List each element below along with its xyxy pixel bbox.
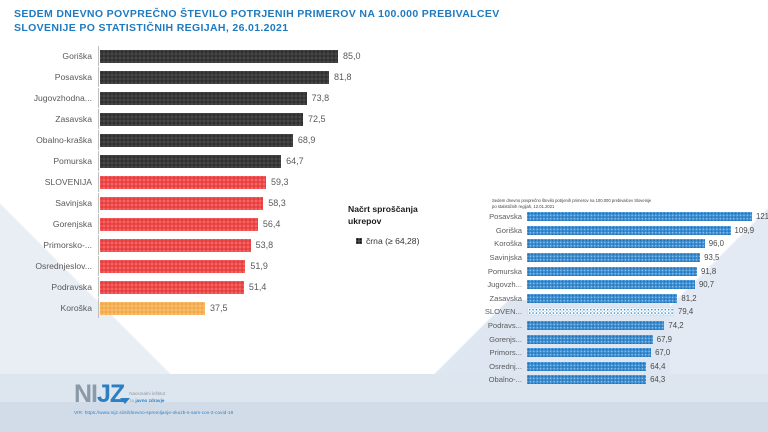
right-chart-category-label: Posavska [458, 212, 527, 221]
right-chart-bar [527, 335, 653, 344]
left-chart-bar [100, 92, 307, 105]
right-chart-plot-cell: 91,8 [527, 264, 768, 278]
left-chart-row: Zasavska72,5 [8, 109, 438, 129]
left-chart-category-label: SLOVENIJA [8, 177, 98, 187]
right-chart-bar [527, 307, 674, 316]
left-chart-row: Goriška85,0 [8, 46, 438, 66]
left-chart-bar [100, 239, 251, 252]
right-chart-value-label: 74,2 [668, 321, 683, 330]
left-bar-chart: Goriška85,0Posavska81,8Jugovzhodna...73,… [8, 46, 438, 308]
left-chart-bar [100, 302, 205, 315]
left-chart-category-label: Posavska [8, 72, 98, 82]
right-chart-category-label: Koroška [458, 239, 527, 248]
left-chart-row: Pomurska64,7 [8, 151, 438, 171]
right-chart-row: Podravs...74,2 [458, 319, 768, 333]
left-chart-plot-cell: 64,7 [98, 151, 438, 171]
right-chart-plot-cell: 121, [527, 210, 768, 224]
left-chart-value-label: 81,8 [334, 72, 352, 82]
left-chart-category-label: Gorenjska [8, 219, 98, 229]
right-chart-value-label: 96,0 [709, 239, 724, 248]
left-chart-category-label: Zasavska [8, 114, 98, 124]
legend-item-label: črna (≥ 64,28) [366, 236, 419, 246]
logo-subtext: Nacionalni inštitut za javno zdravje [129, 391, 165, 404]
right-chart-row: Primors...67,0 [458, 346, 768, 360]
left-chart-value-label: 37,5 [210, 303, 228, 313]
left-chart-category-label: Koroška [8, 303, 98, 313]
right-chart-category-label: Obalno-... [458, 375, 527, 384]
left-chart-category-label: Primorsko-... [8, 240, 98, 250]
right-chart-title-line2: po statističnih regijah, 12.01.2021 [492, 204, 554, 209]
left-chart-category-label: Pomurska [8, 156, 98, 166]
right-chart-value-label: 109,9 [735, 226, 755, 235]
left-chart-value-label: 56,4 [263, 219, 281, 229]
right-chart-category-label: Pomurska [458, 267, 527, 276]
left-chart-value-label: 59,3 [271, 177, 289, 187]
left-chart-plot-cell: 72,5 [98, 109, 438, 129]
right-chart-row: Posavska121, [458, 210, 768, 224]
left-chart-bar [100, 71, 329, 84]
left-chart-bar [100, 50, 338, 63]
left-chart-bar [100, 176, 266, 189]
page-title-line1: SEDEM DNEVNO POVPREČNO ŠTEVILO POTRJENIH… [14, 8, 500, 20]
logo-wordmark: NIJZ [74, 382, 124, 407]
legend-item-crna: črna (≥ 64,28) [348, 236, 458, 246]
left-chart-value-label: 73,8 [312, 93, 330, 103]
left-chart-value-label: 53,8 [256, 240, 274, 250]
right-chart-row: Goriška109,9 [458, 224, 768, 238]
legend-title-line2: ukrepov [348, 216, 381, 226]
right-chart-row: Savinjska93,5 [458, 251, 768, 265]
left-chart-value-label: 85,0 [343, 51, 361, 61]
left-chart-row: SLOVENIJA59,3 [8, 172, 438, 192]
right-chart-value-label: 64,3 [650, 375, 665, 384]
right-chart-value-label: 64,4 [650, 362, 665, 371]
right-chart-title-line1: Sedem dnevno povprečno število potrjenih… [492, 198, 651, 203]
right-chart-value-label: 121, [756, 212, 768, 221]
right-chart-title: Sedem dnevno povprečno število potrjenih… [458, 198, 768, 210]
left-chart-row: Obalno-kraška68,9 [8, 130, 438, 150]
right-chart-value-label: 81,2 [681, 294, 696, 303]
right-chart-category-label: SLOVEN... [458, 307, 527, 316]
right-chart-bar [527, 348, 651, 357]
left-chart-bar [100, 218, 258, 231]
right-chart-value-label: 79,4 [678, 307, 693, 316]
logo-j: J [97, 380, 110, 408]
left-chart-category-label: Osrednjeslov... [8, 261, 98, 271]
right-chart-plot-cell: 64,3 [527, 373, 768, 387]
right-bar-chart-panel: Sedem dnevno povprečno število potrjenih… [458, 198, 768, 424]
right-chart-category-label: Primors... [458, 348, 527, 357]
right-chart-row: Zasavska81,2 [458, 292, 768, 306]
left-chart-category-label: Savinjska [8, 198, 98, 208]
left-chart-bar [100, 155, 281, 168]
left-chart-category-label: Podravska [8, 282, 98, 292]
left-chart-value-label: 68,9 [298, 135, 316, 145]
source-link[interactable]: VIR: https://www.nijz.si/sl/dnevno-sprem… [74, 410, 233, 415]
left-chart-plot-cell: 68,9 [98, 130, 438, 150]
right-chart-category-label: Jugovzh... [458, 280, 527, 289]
right-chart-plot-cell: 109,9 [527, 224, 768, 238]
left-chart-plot-cell: 73,8 [98, 88, 438, 108]
slide-canvas: SEDEM DNEVNO POVPREČNO ŠTEVILO POTRJENIH… [0, 0, 768, 432]
left-chart-row: Podravska51,4 [8, 277, 438, 297]
left-chart-bar [100, 134, 293, 147]
page-title-line2: SLOVENIJE PO STATISTIČNIH REGIJAH, 26.01… [14, 22, 288, 34]
right-chart-category-label: Osrednj... [458, 362, 527, 371]
logo-subtext-line2: za javno zdravje [129, 398, 165, 405]
right-chart-value-label: 67,0 [655, 348, 670, 357]
black-pattern-swatch-icon [356, 238, 362, 244]
left-chart-category-label: Jugovzhodna... [8, 93, 98, 103]
right-chart-bar [527, 362, 646, 371]
left-chart-plot-cell: 85,0 [98, 46, 438, 66]
page-title: SEDEM DNEVNO POVPREČNO ŠTEVILO POTRJENIH… [14, 8, 574, 35]
left-chart-bar [100, 260, 245, 273]
left-chart-value-label: 51,4 [249, 282, 267, 292]
left-chart-bar [100, 113, 303, 126]
right-chart-plot-cell: 93,5 [527, 251, 768, 265]
right-chart-plot-cell: 96,0 [527, 237, 768, 251]
right-chart-category-label: Goriška [458, 226, 527, 235]
left-chart-value-label: 64,7 [286, 156, 304, 166]
right-chart-row: Pomurska91,8 [458, 264, 768, 278]
left-chart-category-label: Obalno-kraška [8, 135, 98, 145]
left-chart-row: Koroška37,5 [8, 298, 438, 318]
right-chart-row: Gorenjs...67,9 [458, 332, 768, 346]
right-chart-bar [527, 280, 695, 289]
right-chart-value-label: 90,7 [699, 280, 714, 289]
left-chart-category-label: Goriška [8, 51, 98, 61]
right-chart-plot-cell: 67,0 [527, 346, 768, 360]
left-chart-plot-cell: 51,9 [98, 256, 438, 276]
left-chart-value-label: 51,9 [250, 261, 268, 271]
right-chart-plot-cell: 64,4 [527, 360, 768, 374]
left-chart-bar [100, 197, 263, 210]
chart-legend: Načrt sproščanja ukrepov črna (≥ 64,28) [348, 204, 458, 246]
right-chart-bar [527, 267, 697, 276]
right-chart-bar [527, 212, 752, 221]
left-chart-plot-cell: 59,3 [98, 172, 438, 192]
right-chart-plot-cell: 74,2 [527, 319, 768, 333]
right-chart-bar [527, 226, 731, 235]
right-chart-row: SLOVEN...79,4 [458, 305, 768, 319]
left-chart-plot-cell: 37,5 [98, 298, 438, 318]
right-chart-category-label: Savinjska [458, 253, 527, 262]
right-chart-category-label: Zasavska [458, 294, 527, 303]
logo-ni: NI [74, 380, 97, 408]
right-chart-row: Obalno-...64,3 [458, 373, 768, 387]
right-chart-plot-cell: 79,4 [527, 305, 768, 319]
right-chart-bar [527, 253, 700, 262]
left-chart-bar [100, 281, 244, 294]
right-chart-bar [527, 239, 705, 248]
right-chart-value-label: 67,9 [657, 335, 672, 344]
left-chart-value-label: 72,5 [308, 114, 326, 124]
left-chart-value-label: 58,3 [268, 198, 286, 208]
right-chart-category-label: Podravs... [458, 321, 527, 330]
right-chart-value-label: 93,5 [704, 253, 719, 262]
legend-title-line1: Načrt sproščanja [348, 204, 418, 214]
right-chart-plot-cell: 90,7 [527, 278, 768, 292]
right-chart-bar [527, 294, 677, 303]
logo-arrow-icon [120, 398, 130, 404]
right-chart-row: Koroška96,0 [458, 237, 768, 251]
left-chart-row: Posavska81,8 [8, 67, 438, 87]
right-chart-value-label: 91,8 [701, 267, 716, 276]
right-chart-plot-cell: 67,9 [527, 332, 768, 346]
right-chart-bar [527, 321, 664, 330]
right-chart-rows: Posavska121,Goriška109,9Koroška96,0Savin… [458, 210, 768, 387]
left-chart-row: Osrednjeslov...51,9 [8, 256, 438, 276]
legend-title: Načrt sproščanja ukrepov [348, 204, 458, 227]
right-chart-category-label: Gorenjs... [458, 335, 527, 344]
right-chart-plot-cell: 81,2 [527, 292, 768, 306]
left-chart-plot-cell: 51,4 [98, 277, 438, 297]
right-chart-bar [527, 375, 646, 384]
left-chart-plot-cell: 81,8 [98, 67, 438, 87]
left-chart-row: Jugovzhodna...73,8 [8, 88, 438, 108]
right-chart-row: Jugovzh...90,7 [458, 278, 768, 292]
right-chart-row: Osrednj...64,4 [458, 360, 768, 374]
logo-subtext-javno-zdravje: javno zdravje [135, 398, 164, 403]
